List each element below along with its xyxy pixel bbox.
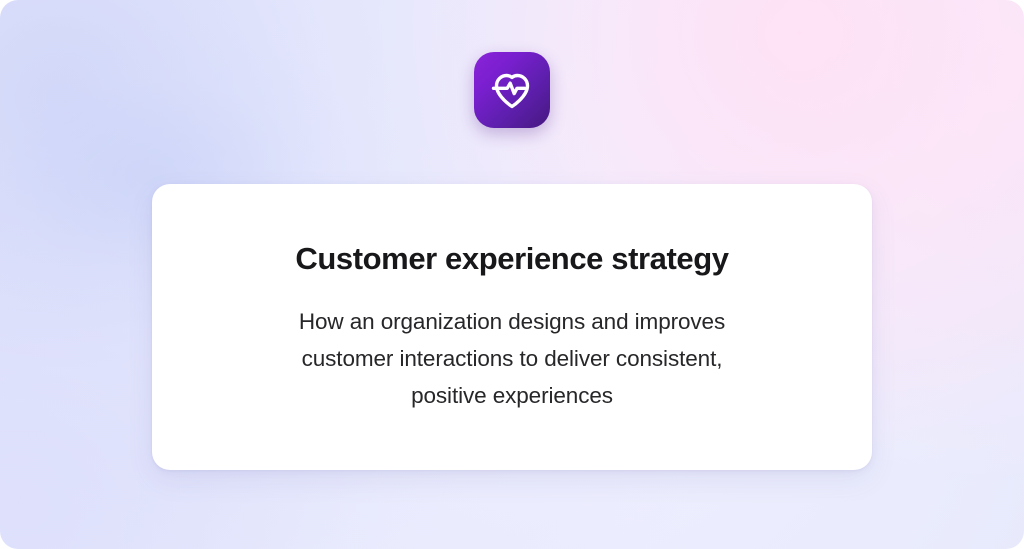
definition-card-page: Customer experience strategy How an orga… — [0, 0, 1024, 549]
definition-text: How an organization designs and improves… — [299, 303, 725, 414]
app-icon-tile — [474, 52, 550, 128]
definition-line-3: positive experiences — [299, 377, 725, 414]
heart-pulse-icon — [488, 66, 536, 114]
content-stage: Customer experience strategy How an orga… — [0, 0, 1024, 549]
definition-line-2: customer interactions to deliver consist… — [299, 340, 725, 377]
definition-card: Customer experience strategy How an orga… — [152, 184, 872, 470]
page-title: Customer experience strategy — [295, 240, 728, 277]
definition-line-1: How an organization designs and improves — [299, 303, 725, 340]
